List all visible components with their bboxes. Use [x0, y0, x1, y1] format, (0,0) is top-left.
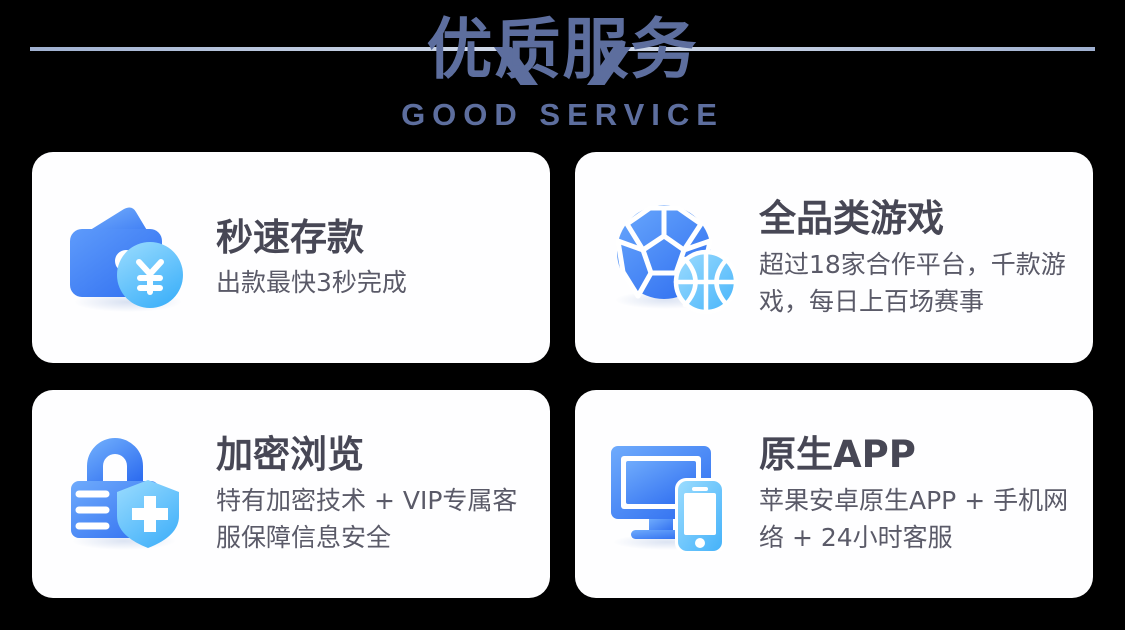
card-description: 超过18家合作平台，千款游戏，每日上百场赛事 — [759, 246, 1071, 320]
section-header: 优质服务 GOOD SERVICE — [0, 0, 1125, 142]
card-description: 特有加密技术 + VIP专属客服保障信息安全 — [216, 482, 528, 556]
card-text-block: 全品类游戏 超过18家合作平台，千款游戏，每日上百场赛事 — [759, 196, 1071, 320]
feature-card-encryption[interactable]: 加密浏览 特有加密技术 + VIP专属客服保障信息安全 — [32, 390, 550, 598]
card-text-block: 加密浏览 特有加密技术 + VIP专属客服保障信息安全 — [216, 432, 528, 556]
card-title: 原生APP — [759, 432, 1071, 477]
page-title: 优质服务 — [0, 14, 1125, 86]
feature-card-games[interactable]: 全品类游戏 超过18家合作平台，千款游戏，每日上百场赛事 — [575, 152, 1093, 363]
page-subtitle: GOOD SERVICE — [0, 97, 1125, 133]
card-description: 苹果安卓原生APP + 手机网络 + 24小时客服 — [759, 482, 1071, 556]
monitor-phone-icon — [605, 432, 741, 556]
card-description: 出款最快3秒完成 — [216, 265, 528, 301]
card-text-block: 原生APP 苹果安卓原生APP + 手机网络 + 24小时客服 — [759, 432, 1071, 556]
card-title: 全品类游戏 — [759, 196, 1071, 241]
feature-card-native-app[interactable]: 原生APP 苹果安卓原生APP + 手机网络 + 24小时客服 — [575, 390, 1093, 598]
soccer-basketball-icon — [605, 196, 741, 320]
good-service-banner: 优质服务 GOOD SERVICE — [0, 0, 1125, 630]
feature-card-deposit[interactable]: 秒速存款 出款最快3秒完成 — [32, 152, 550, 363]
card-title: 秒速存款 — [216, 215, 528, 260]
card-title: 加密浏览 — [216, 432, 528, 477]
wallet-yen-icon — [62, 196, 198, 320]
lock-shield-icon — [62, 432, 198, 556]
feature-card-grid: 秒速存款 出款最快3秒完成 — [32, 152, 1093, 598]
card-text-block: 秒速存款 出款最快3秒完成 — [216, 215, 528, 301]
